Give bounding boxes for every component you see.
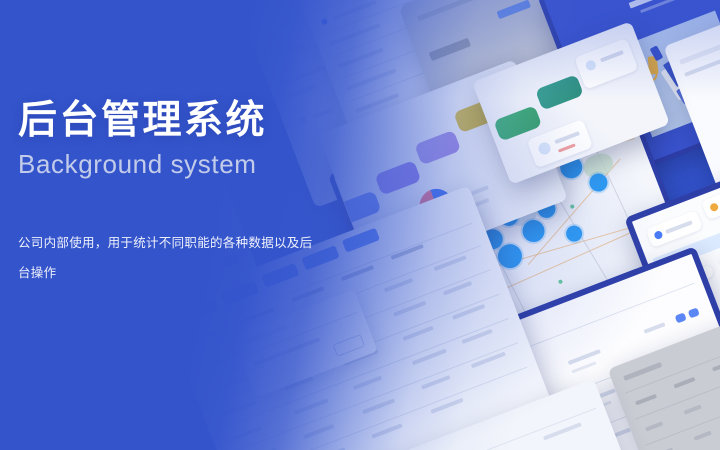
screens-collage [0,0,720,450]
page-title: 后台管理系统 [18,98,348,144]
poster-stage: 后台管理系统 Background system 公司内部使用，用于统计不同职能… [0,0,720,450]
page-description: 公司内部使用，用于统计不同职能的各种数据以及后台操作 [18,228,318,288]
stat-card-teal [535,74,584,110]
page-subtitle: Background system [18,148,348,180]
stat-card-violet [414,130,461,166]
hero-text-block: 后台管理系统 Background system 公司内部使用，用于统计不同职能… [18,98,348,180]
stat-card-purple [374,160,421,196]
